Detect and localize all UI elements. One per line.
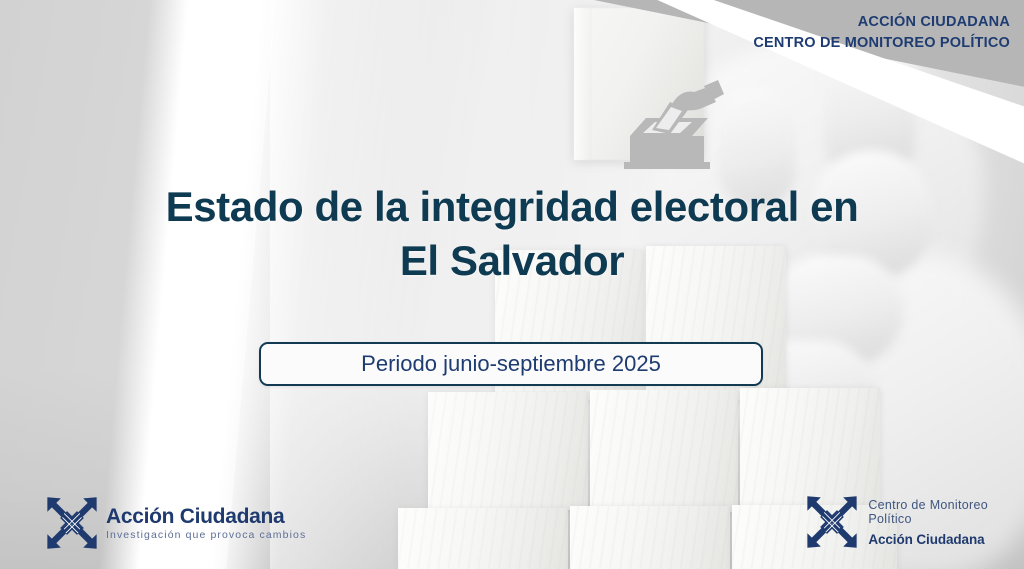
cmp-name-line-2: Político [868, 512, 988, 526]
cmp-brand-name: Acción Ciudadana [868, 532, 988, 547]
x-arrows-logo-icon [804, 493, 860, 551]
logo-accion-ciudadana: Acción Ciudadana Investigación que provo… [44, 495, 306, 551]
logo-right-text: Centro de Monitoreo Político Acción Ciud… [868, 498, 988, 547]
period-badge: Periodo junio-septiembre 2025 [259, 342, 763, 386]
cmp-name-line-1: Centro de Monitoreo [868, 498, 988, 512]
wooden-block [570, 506, 730, 569]
page-title-line-2: El Salvador [70, 234, 954, 288]
ballot-box-icon [612, 78, 724, 170]
brand-name: Acción Ciudadana [106, 506, 306, 527]
title-slide: ACCIÓN CIUDADANA CENTRO DE MONITOREO POL… [0, 0, 1024, 569]
brand-tagline: Investigación que provoca cambios [106, 530, 306, 541]
wooden-block [590, 390, 738, 512]
organization-unit: CENTRO DE MONITOREO POLÍTICO [753, 33, 1010, 54]
x-arrows-logo-icon [44, 495, 100, 551]
held-wooden-block-edge [574, 8, 592, 160]
logo-left-text: Acción Ciudadana Investigación que provo… [106, 506, 306, 541]
logo-centro-monitoreo-politico: Centro de Monitoreo Político Acción Ciud… [804, 493, 988, 551]
organization-name: ACCIÓN CIUDADANA [753, 12, 1010, 33]
wooden-block [740, 388, 880, 510]
wooden-block [428, 392, 588, 510]
period-label: Periodo junio-septiembre 2025 [361, 353, 661, 375]
page-title-line-1: Estado de la integridad electoral en [70, 180, 954, 234]
page-title: Estado de la integridad electoral en El … [0, 180, 1024, 288]
wooden-block [398, 508, 568, 569]
organization-kicker: ACCIÓN CIUDADANA CENTRO DE MONITOREO POL… [753, 12, 1010, 54]
